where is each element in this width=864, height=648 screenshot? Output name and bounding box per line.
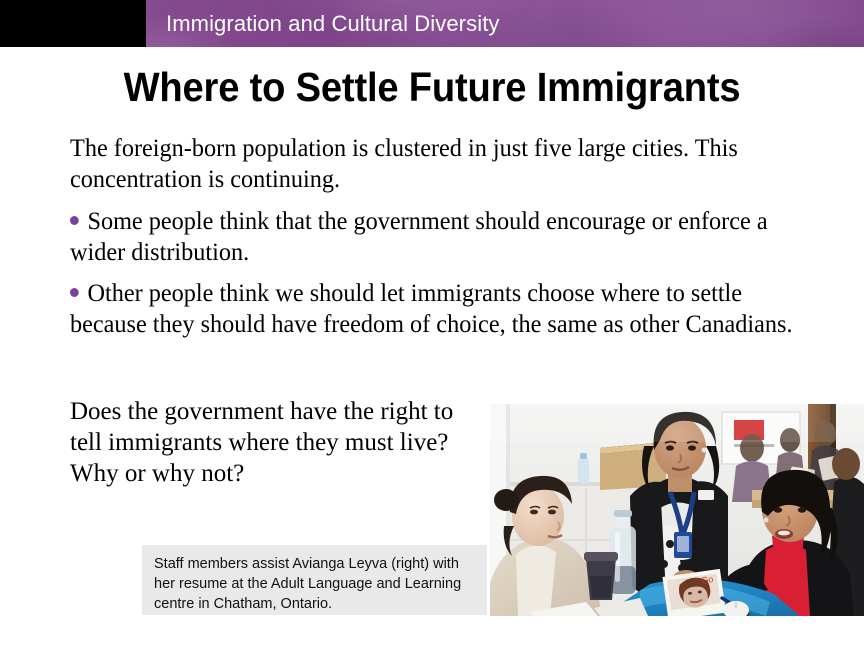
lead-paragraph: The foreign-born population is clustered… bbox=[70, 133, 817, 195]
slide-body: The foreign-born population is clustered… bbox=[70, 133, 840, 350]
bullet-dot-icon bbox=[70, 288, 79, 297]
unit-subject-label: Immigration and Cultural Diversity bbox=[166, 0, 500, 47]
slide-title: Where to Settle Future Immigrants bbox=[30, 64, 834, 110]
bullet-item: Some people think that the government sh… bbox=[70, 206, 817, 268]
unit-number-badge bbox=[0, 0, 146, 47]
photo-caption: Staff members assist Avianga Leyva (righ… bbox=[142, 545, 487, 615]
svg-text:Go: Go bbox=[701, 574, 714, 586]
unit-header-band: UNIT 3 Immigration and Cultural Diversit… bbox=[0, 0, 864, 47]
photo-settlement-services: Go bbox=[490, 404, 864, 616]
bullet-item: Other people think we should let immigra… bbox=[70, 278, 817, 340]
bullet-item-text: Other people think we should let immigra… bbox=[70, 280, 793, 338]
bullet-item-text: Some people think that the government sh… bbox=[70, 208, 768, 266]
bullet-dot-icon bbox=[70, 216, 79, 225]
discussion-question: Does the government have the right to te… bbox=[70, 396, 480, 489]
